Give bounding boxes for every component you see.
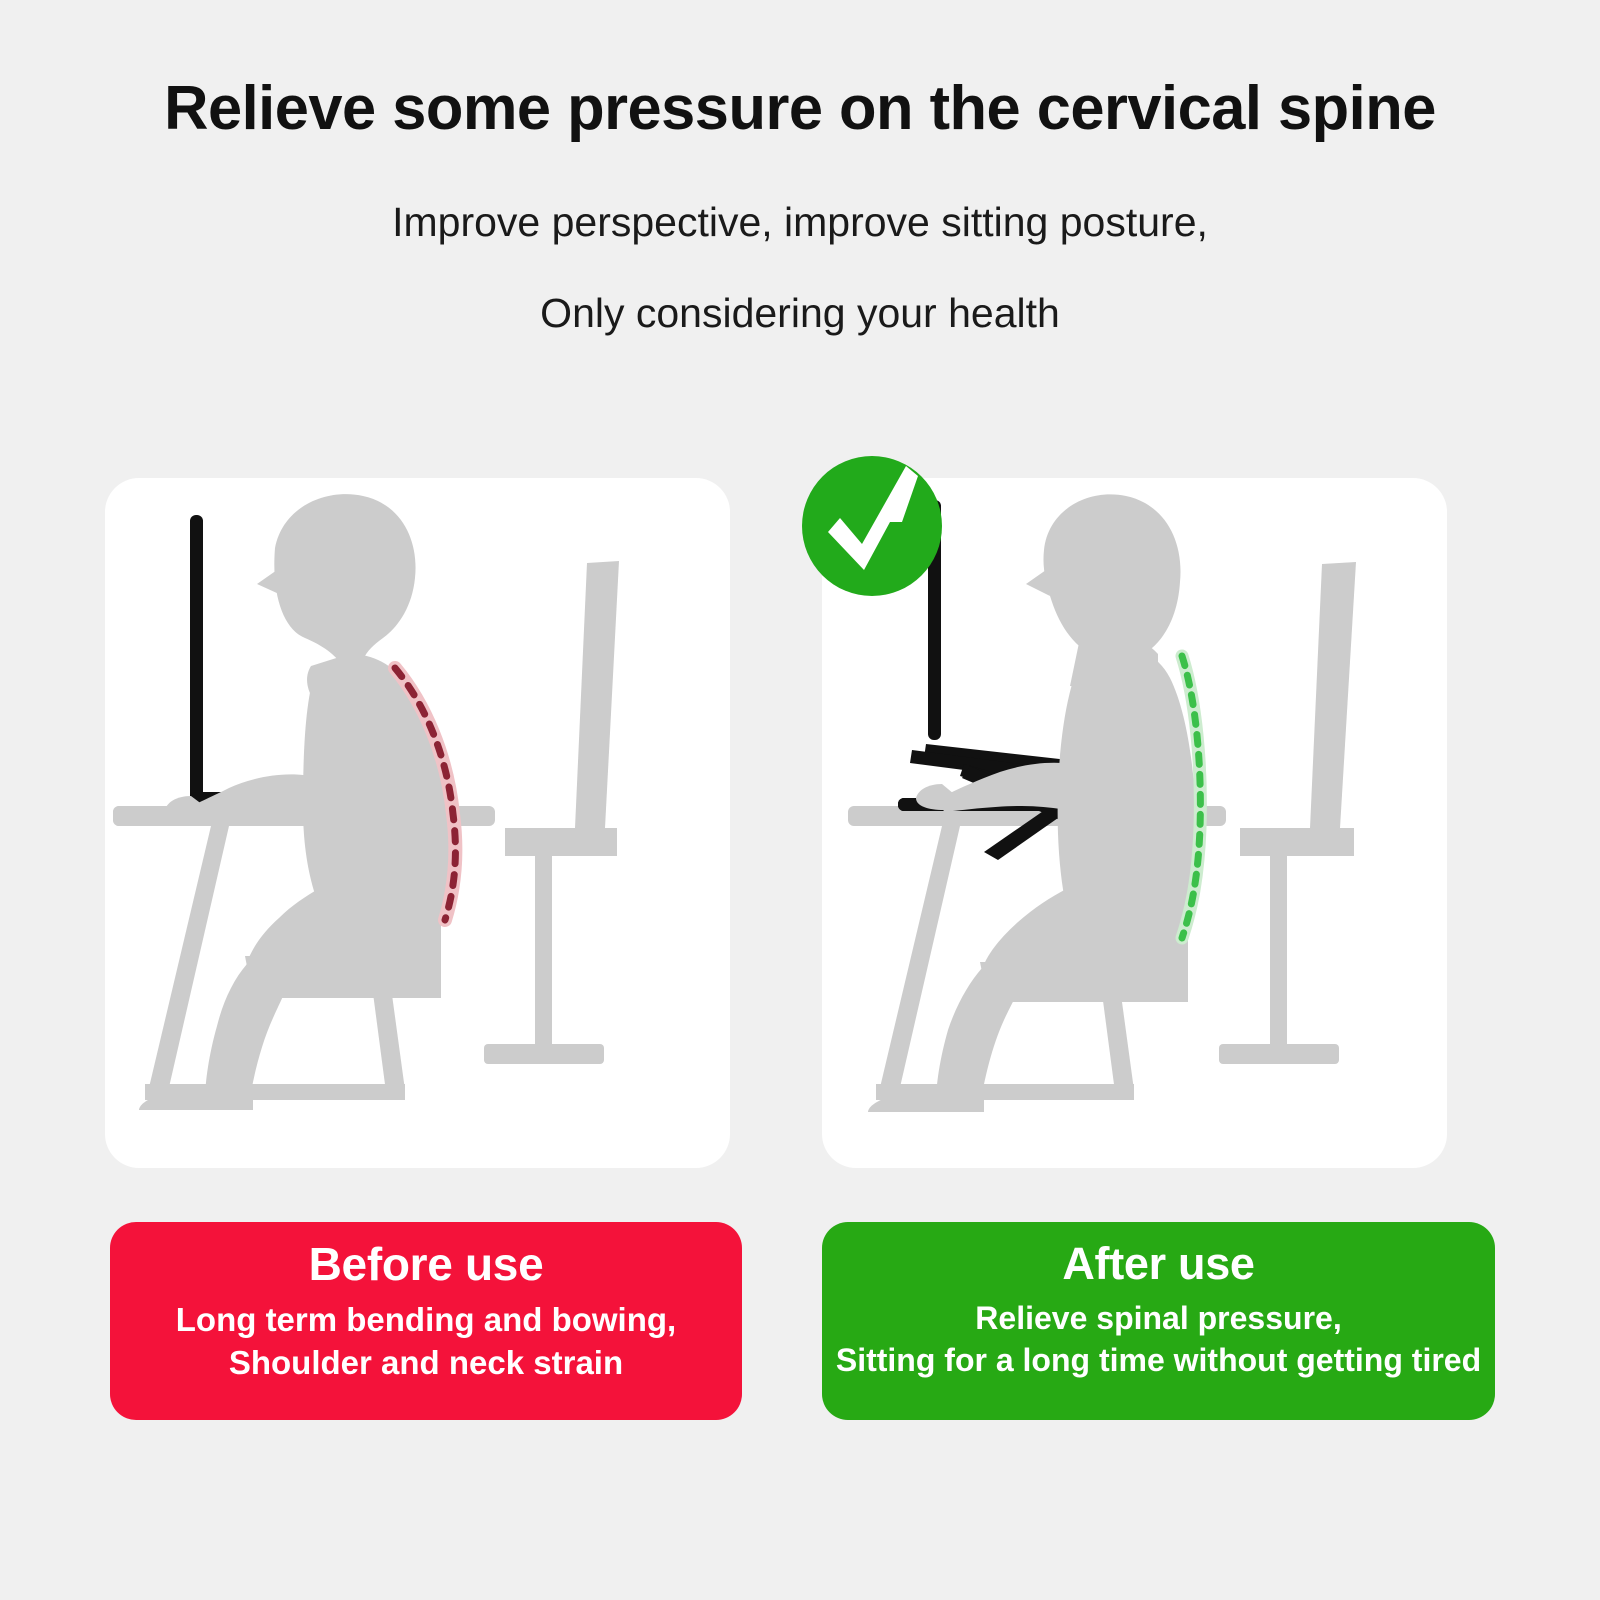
before-use-line-1: Long term bending and bowing, [110, 1291, 742, 1342]
subtitle-line-1: Improve perspective, improve sitting pos… [0, 140, 1600, 243]
before-use-caption-panel: Before use Long term bending and bowing,… [110, 1222, 742, 1420]
before-use-line-2: Shoulder and neck strain [110, 1342, 742, 1385]
chair-shape [1219, 562, 1356, 1064]
before-use-title: Before use [110, 1238, 742, 1291]
person-silhouette-hunched [139, 494, 462, 1110]
after-use-caption-panel: After use Relieve spinal pressure, Sitti… [822, 1222, 1495, 1420]
before-use-scene [105, 478, 730, 1168]
subtitle-line-2: Only considering your health [0, 243, 1600, 334]
after-use-title: After use [822, 1238, 1495, 1290]
after-use-line-2: Sitting for a long time without getting … [822, 1340, 1495, 1382]
check-circle-icon [798, 452, 946, 600]
after-use-line-1: Relieve spinal pressure, [822, 1290, 1495, 1340]
before-use-illustration-card [105, 478, 730, 1168]
page-title: Relieve some pressure on the cervical sp… [8, 0, 1592, 140]
header: Relieve some pressure on the cervical sp… [0, 0, 1600, 334]
chair-shape [484, 561, 619, 1064]
